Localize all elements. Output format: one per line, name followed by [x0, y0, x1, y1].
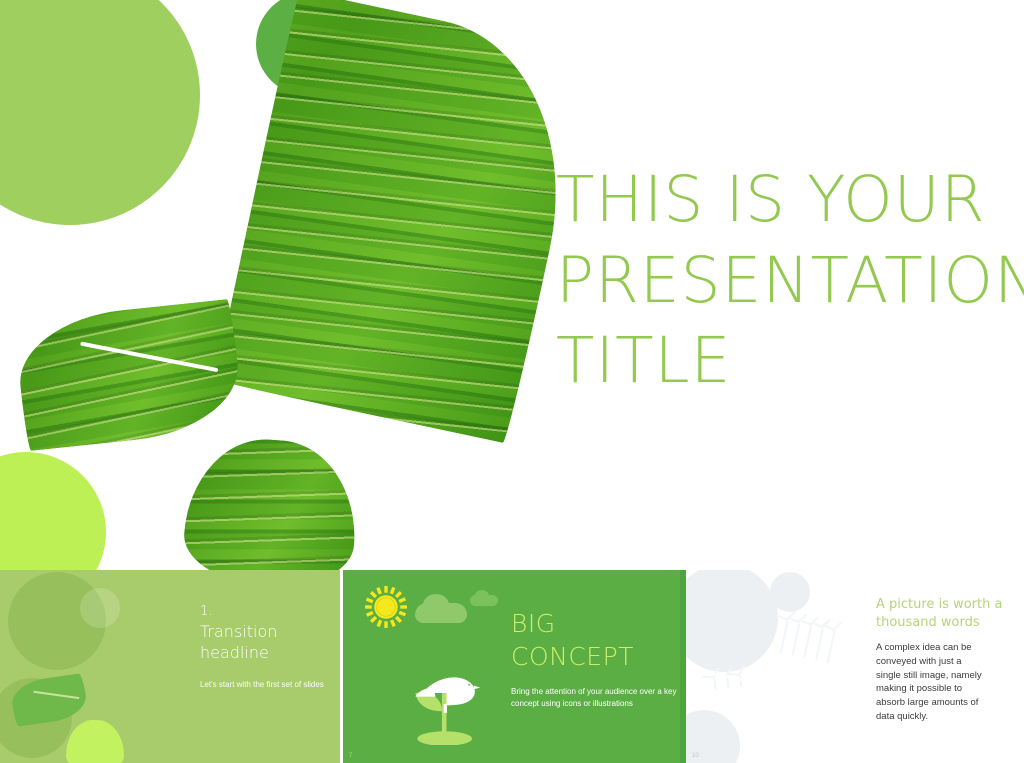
- decorative-circle-pale: [0, 0, 200, 225]
- picture-slide-body: A complex idea can be conveyed with just…: [876, 641, 1018, 724]
- presentation-preview: THIS IS YOUR PRESENTATION TITLE 1. Trans…: [0, 0, 1024, 763]
- cloud-icon-small: [470, 595, 498, 606]
- leaf-shape-bottom: [66, 720, 124, 763]
- picture-slide-text: A picture is worth a thousand words A co…: [876, 596, 1018, 724]
- thumbnail-picture-slide[interactable]: A picture is worth a thousand words A co…: [680, 570, 1024, 763]
- leaf-shape-left: [14, 299, 244, 451]
- bird-on-plant-icon: [395, 640, 487, 745]
- big-concept-headline: BIG CONCEPT: [511, 608, 679, 673]
- rice-terrace-texture: [181, 434, 361, 570]
- page-number: 10: [692, 753, 699, 759]
- wind-turbine-photo: [770, 573, 868, 594]
- leaf-shape-bottom: [181, 434, 361, 570]
- decorative-circle: [680, 710, 740, 763]
- picture-slide-headline: A picture is worth a thousand words: [876, 596, 1018, 631]
- big-concept-text: BIG CONCEPT Bring the attention of your …: [511, 608, 679, 709]
- cover-slide[interactable]: THIS IS YOUR PRESENTATION TITLE: [0, 0, 1024, 570]
- rice-terrace-texture: [14, 299, 244, 451]
- transition-subtitle: Let's start with the first set of slides: [200, 680, 325, 691]
- transition-slide-text: 1. Transition headline Let's start with …: [200, 604, 325, 691]
- slide-thumbnail-strip: 1. Transition headline Let's start with …: [0, 570, 1024, 763]
- decorative-circle-bright: [0, 452, 106, 570]
- big-concept-subtitle: Bring the attention of your audience ove…: [511, 686, 679, 709]
- fern-texture: [93, 580, 203, 603]
- page-title: THIS IS YOUR PRESENTATION TITLE: [556, 160, 996, 402]
- thumbnail-big-concept-slide[interactable]: BIG CONCEPT Bring the attention of your …: [340, 570, 680, 763]
- section-number: 1.: [200, 604, 325, 619]
- cloud-icon: [415, 603, 467, 623]
- thumbnail-transition-slide[interactable]: 1. Transition headline Let's start with …: [0, 570, 340, 763]
- page-number: 7: [349, 753, 352, 759]
- leaf-shape-bottom: [742, 710, 798, 763]
- transition-headline: Transition headline: [200, 621, 325, 664]
- sun-icon: [365, 586, 407, 628]
